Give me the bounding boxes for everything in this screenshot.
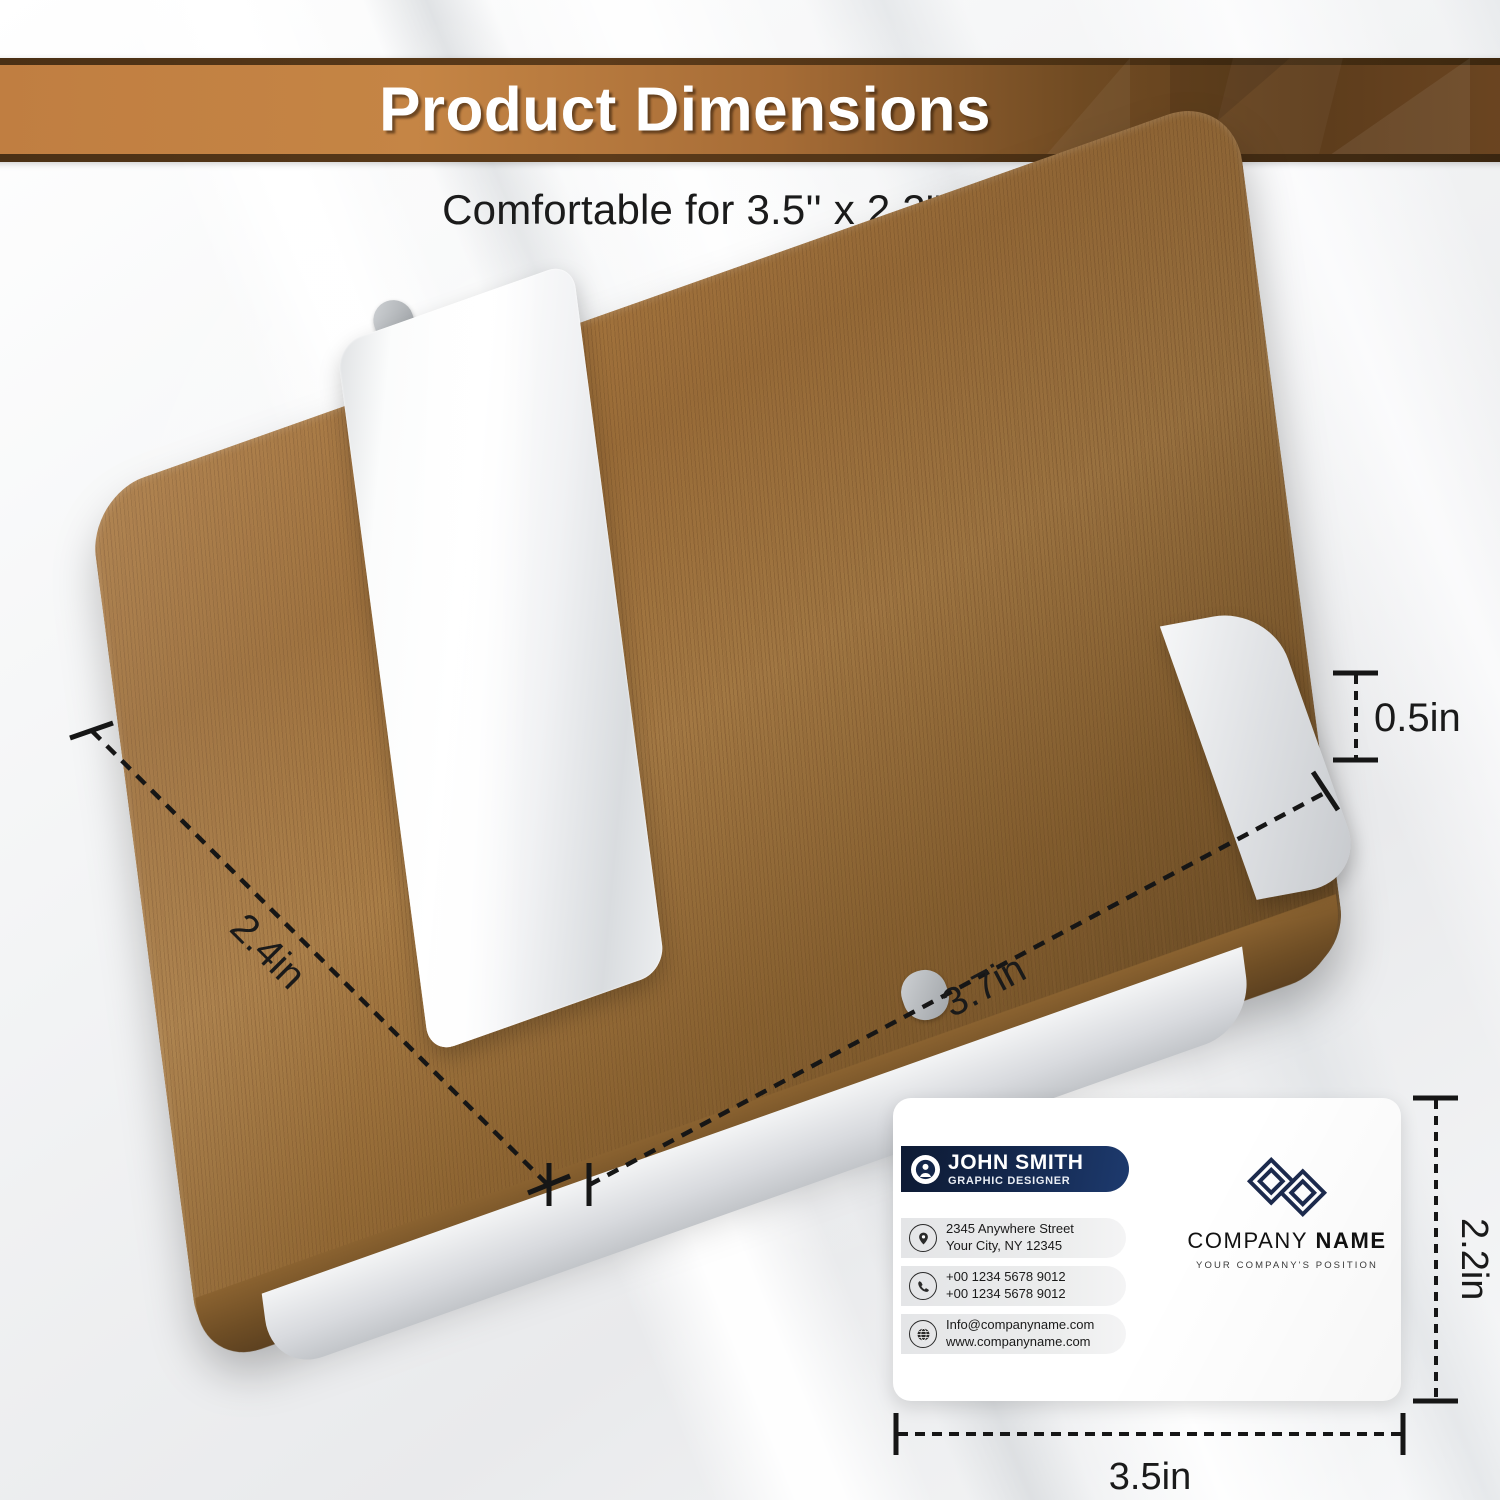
card-holder-product — [90, 270, 1350, 1170]
card-contact-column: JOHN SMITH GRAPHIC DESIGNER 2345 Anywher… — [893, 1098, 1183, 1401]
page-subtitle: Comfortable for 3.5'' x 2.2'' cards — [0, 186, 1500, 234]
contact-address: 2345 Anywhere Street Your City, NY 12345 — [946, 1221, 1074, 1254]
contact-phone: +00 1234 5678 9012 +00 1234 5678 9012 — [946, 1269, 1066, 1302]
contact-web: Info@companyname.com www.companyname.com — [946, 1317, 1094, 1350]
company-name: COMPANY NAME — [1187, 1228, 1387, 1254]
globe-icon — [909, 1320, 937, 1348]
contact-row-web: Info@companyname.com www.companyname.com — [901, 1314, 1126, 1354]
business-card: JOHN SMITH GRAPHIC DESIGNER 2345 Anywher… — [893, 1098, 1401, 1401]
page-title: Product Dimensions — [0, 75, 1500, 146]
location-pin-icon — [909, 1224, 937, 1252]
contact-row-address: 2345 Anywhere Street Your City, NY 12345 — [901, 1218, 1126, 1258]
contact-row-phone: +00 1234 5678 9012 +00 1234 5678 9012 — [901, 1266, 1126, 1306]
name-badge: JOHN SMITH GRAPHIC DESIGNER — [901, 1146, 1129, 1192]
phone-icon — [909, 1272, 937, 1300]
person-icon — [911, 1155, 940, 1184]
header-banner: Product Dimensions — [0, 58, 1500, 162]
card-person-role: GRAPHIC DESIGNER — [948, 1176, 1084, 1187]
infographic-canvas: Product Dimensions Comfortable for 3.5''… — [0, 0, 1500, 1500]
card-brand-column: COMPANY NAME YOUR COMPANY'S POSITION — [1187, 1154, 1387, 1271]
card-person-name: JOHN SMITH — [948, 1152, 1084, 1173]
interlocking-diamond-logo — [1187, 1154, 1387, 1220]
company-tagline: YOUR COMPANY'S POSITION — [1187, 1260, 1387, 1271]
